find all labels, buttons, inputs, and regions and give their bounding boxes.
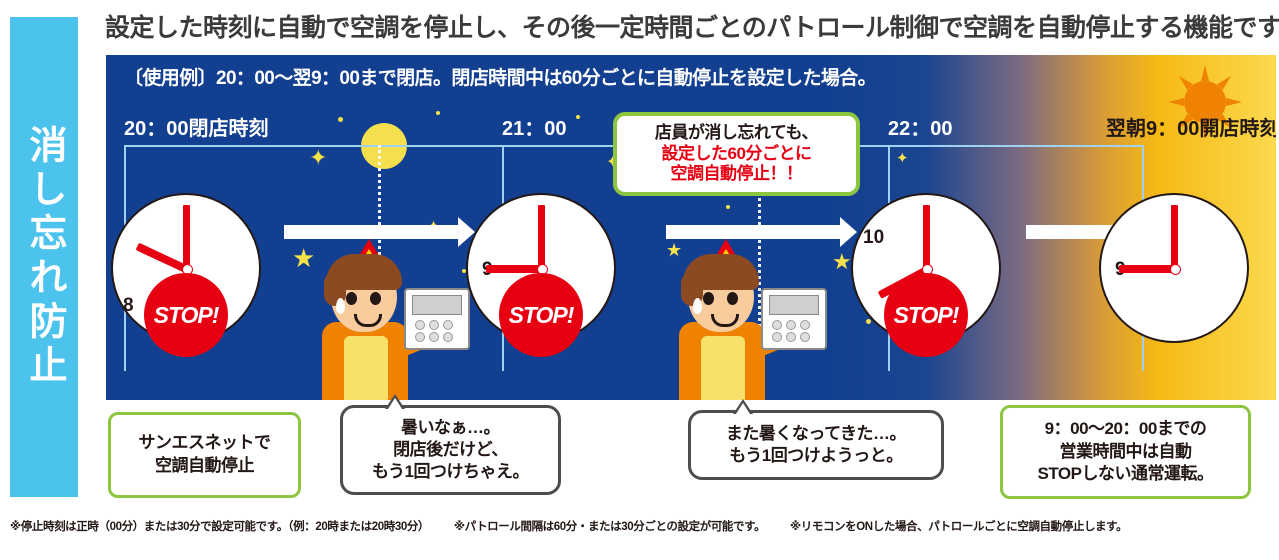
clock-hour-number: 10 xyxy=(863,227,884,249)
callout-line-2: 設定した60分ごとに xyxy=(662,144,812,165)
timeline-label-2200: 22：00 xyxy=(888,112,953,141)
stop-badge-label: STOP! xyxy=(509,302,574,329)
clock-minute-hand xyxy=(1171,205,1178,271)
page-title: 設定した時刻に自動で空調を停止し、その後一定時間ごとのパトロール制御で空調を自動… xyxy=(105,8,1275,44)
speech-bubble-2-line-2: もう1回つけようっと。 xyxy=(729,445,902,467)
progress-arrow xyxy=(284,225,459,239)
right-green-box-line-1: 9：00〜20：00までの xyxy=(1045,418,1207,441)
star-dot xyxy=(576,115,580,119)
callout-line-1: 店員が消し忘れても、 xyxy=(655,123,818,144)
left-green-box-line-1: サンエスネットで xyxy=(139,432,271,455)
speech-bubble-1: 暑いなぁ…。 閉店後だけど、 もう1回つけちゃえ。 xyxy=(340,405,561,495)
stop-badge: STOP! xyxy=(884,273,968,357)
star-icon: ✦ xyxy=(896,151,909,166)
speech-bubble-2: また暑くなってきた…。 もう1回つけようっと。 xyxy=(688,410,944,480)
footnote-1: ※停止時刻は正時（00分）または30分で設定可能です。（例：20時または20時3… xyxy=(10,521,429,533)
clock-face: 9 STOP! xyxy=(466,193,616,343)
right-green-box-line-2: 営業時間中は自動 xyxy=(1060,441,1192,464)
stop-badge-label: STOP! xyxy=(894,302,959,329)
clock-face: 8 STOP! xyxy=(111,193,261,343)
speech-bubble-1-line-2: 閉店後だけど、 xyxy=(393,439,508,461)
timeline-label-2100: 21：00 xyxy=(502,112,567,141)
remote-control-icon xyxy=(404,288,470,350)
remote-control-icon xyxy=(761,288,827,350)
right-green-box-line-3: STOPしない通常運転。 xyxy=(1038,463,1214,486)
left-green-box-line-2: 空調自動停止 xyxy=(155,455,254,478)
sidebar-banner-label: 消し忘れ防止 xyxy=(10,17,78,497)
scene-subtitle: 〔使用例〕20：00〜翌9：00まで閉店。閉店時間中は60分ごとに自動停止を設定… xyxy=(124,63,876,90)
stop-badge: STOP! xyxy=(499,273,583,357)
star-dot xyxy=(338,117,343,122)
scene-panel: 〔使用例〕20：00〜翌9：00まで閉店。閉店時間中は60分ごとに自動停止を設定… xyxy=(106,55,1276,400)
speech-bubble-1-line-3: もう1回つけちゃえ。 xyxy=(372,461,529,483)
left-green-box: サンエスネットで 空調自動停止 xyxy=(108,412,301,498)
sidebar-banner: 消し忘れ防止 xyxy=(10,17,78,497)
clock-minute-hand xyxy=(923,205,930,271)
stop-badge-label: STOP! xyxy=(154,302,219,329)
footnotes: ※停止時刻は正時（00分）または30分で設定可能です。（例：20時または20時3… xyxy=(10,518,1272,534)
stop-badge: STOP! xyxy=(144,273,228,357)
star-icon: ★ xyxy=(832,251,852,273)
timeline-label-0900: 翌朝9：00開店時刻 xyxy=(1106,112,1276,141)
speech-bubble-2-line-1: また暑くなってきた…。 xyxy=(726,423,906,445)
star-dot xyxy=(436,111,440,115)
footnote-3: ※リモコンをONした場合、パトロールごとに空調自動停止します。 xyxy=(790,521,1127,533)
clock-face: 10 STOP! xyxy=(851,193,1001,343)
timeline-label-2000: 20：00閉店時刻 xyxy=(124,112,269,141)
clock-minute-hand xyxy=(183,205,190,271)
speech-bubble-1-line-1: 暑いなぁ…。 xyxy=(401,417,500,439)
clock-hour-hand xyxy=(1119,265,1175,273)
clock-hour-hand xyxy=(486,265,542,273)
callout-box: 店員が消し忘れても、 設定した60分ごとに 空調自動停止！！ xyxy=(613,112,860,196)
footnote-2: ※パトロール間隔は60分・または30分ごとの設定が可能です。 xyxy=(454,521,765,533)
callout-line-3: 空調自動停止！！ xyxy=(671,164,803,185)
clock-center-pin xyxy=(1170,264,1181,275)
star-dot xyxy=(726,205,730,209)
clock-minute-hand xyxy=(538,205,545,271)
clock-hour-number: 8 xyxy=(123,295,134,317)
star-icon: ✦ xyxy=(309,147,327,169)
right-green-box: 9：00〜20：00までの 営業時間中は自動 STOPしない通常運転。 xyxy=(1000,405,1251,499)
progress-arrow xyxy=(666,225,841,239)
star-dot xyxy=(866,319,871,324)
clock-face: 9 xyxy=(1099,193,1249,343)
